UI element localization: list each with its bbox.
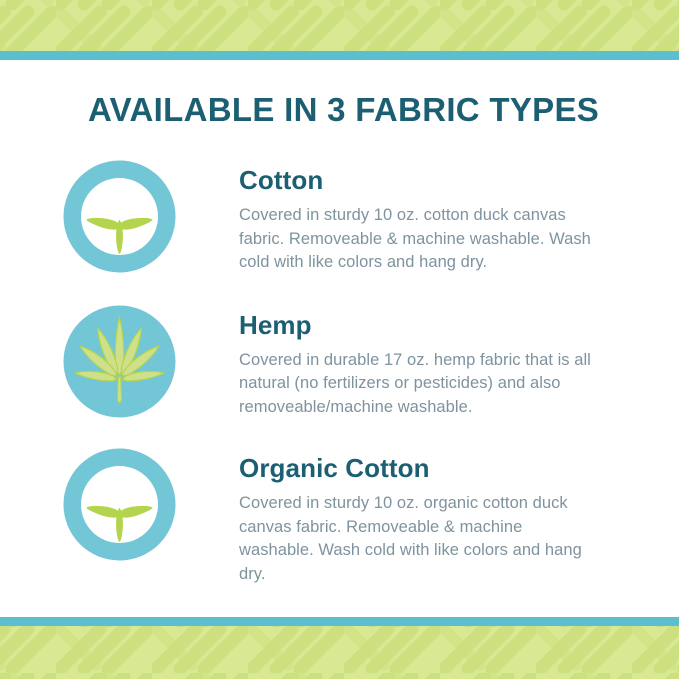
cotton-boll-icon xyxy=(62,159,177,274)
teal-divider-rule-top xyxy=(0,51,679,60)
fabric-description: Covered in sturdy 10 oz. cotton duck can… xyxy=(239,204,594,275)
fabric-name: Organic Cotton xyxy=(239,453,633,483)
teal-divider-rule-bottom xyxy=(0,617,679,626)
top-decorative-banner xyxy=(0,0,679,60)
fabric-name: Cotton xyxy=(239,165,633,195)
fabric-types-list: Cotton Covered in sturdy 10 oz. cotton d… xyxy=(0,159,679,586)
fabric-item-cotton: Cotton Covered in sturdy 10 oz. cotton d… xyxy=(0,159,679,275)
fabric-types-infographic: AVAILABLE IN 3 FABRIC TYPES xyxy=(0,0,679,679)
fabric-item-organic-cotton: Organic Cotton Covered in sturdy 10 oz. … xyxy=(0,447,679,586)
cotton-boll-icon xyxy=(62,447,177,562)
fabric-item-hemp: Hemp Covered in durable 17 oz. hemp fabr… xyxy=(0,304,679,420)
bottom-decorative-banner xyxy=(0,617,679,679)
page-title: AVAILABLE IN 3 FABRIC TYPES xyxy=(88,90,679,130)
fabric-text-cotton: Cotton Covered in sturdy 10 oz. cotton d… xyxy=(177,159,679,275)
fabric-description: Covered in durable 17 oz. hemp fabric th… xyxy=(239,349,594,420)
main-content: AVAILABLE IN 3 FABRIC TYPES xyxy=(0,64,679,613)
fabric-name: Hemp xyxy=(239,310,633,340)
fabric-description: Covered in sturdy 10 oz. organic cotton … xyxy=(239,492,594,586)
fabric-text-organic-cotton: Organic Cotton Covered in sturdy 10 oz. … xyxy=(177,447,679,586)
fabric-text-hemp: Hemp Covered in durable 17 oz. hemp fabr… xyxy=(177,304,679,420)
diagonal-weave-pattern xyxy=(0,617,679,679)
hemp-leaf-icon xyxy=(62,304,177,419)
